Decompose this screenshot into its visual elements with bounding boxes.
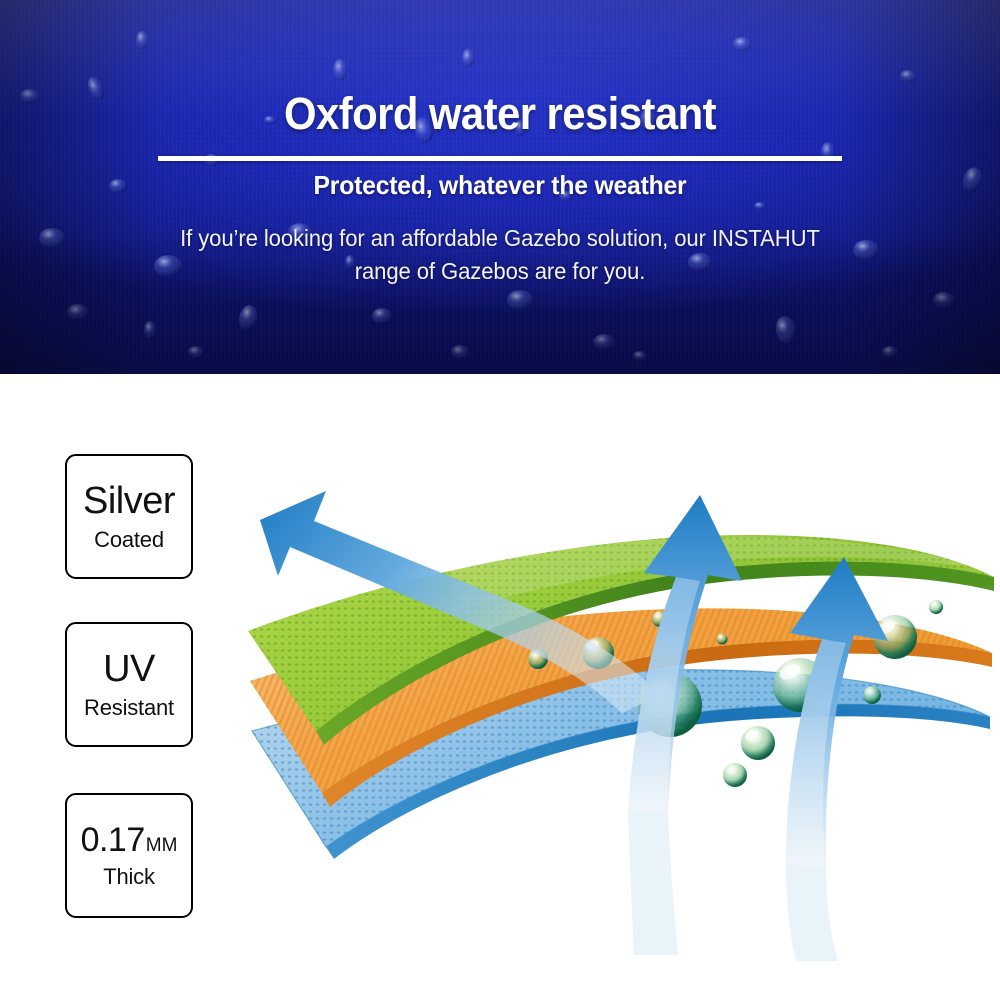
badge-uv-resistant: UV Resistant (65, 622, 193, 747)
badge-main-text: UV (103, 650, 155, 688)
badge-sub-label: Coated (94, 529, 164, 551)
badge-main-text: Silver (83, 482, 175, 520)
badge-main-label: UV (103, 650, 155, 688)
fabric-layers-illustration (230, 395, 1000, 965)
badge-main-label: 0.17 (81, 823, 145, 857)
badge-main-text: 0.17 MM (81, 823, 178, 857)
product-feature-panel: Oxford water resistant Protected, whatev… (0, 0, 1000, 1000)
badge-sub-label: Resistant (84, 697, 174, 719)
badge-thickness: 0.17 MM Thick (65, 793, 193, 918)
badge-silver-coated: Silver Coated (65, 454, 193, 579)
badge-sub-label: Thick (103, 866, 155, 888)
badge-main-label: Silver (83, 482, 175, 520)
badge-unit-label: MM (146, 836, 178, 855)
